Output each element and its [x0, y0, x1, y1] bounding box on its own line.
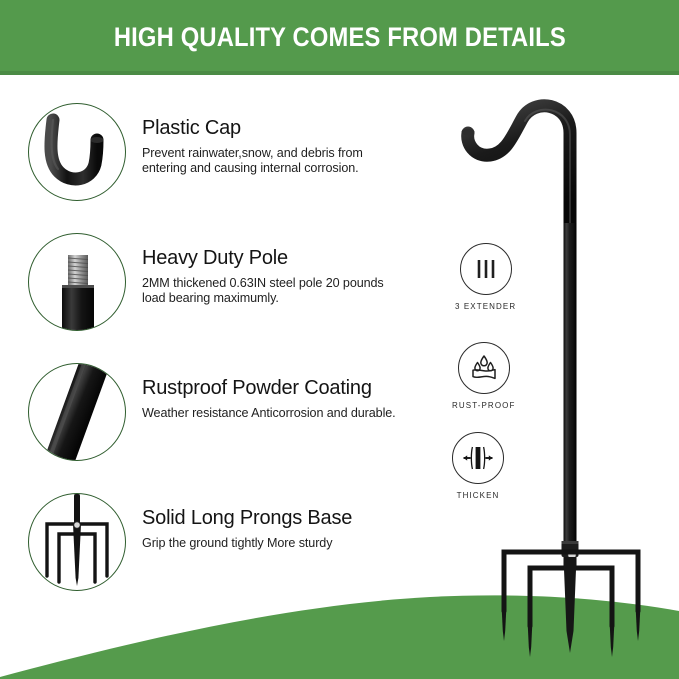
- product-infographic: HIGH QUALITY COMES FROM DETAILS: [0, 0, 679, 679]
- badge-rust-proof: RUST-PROOF: [452, 342, 515, 410]
- outward-arrows-icon: [452, 432, 504, 484]
- feature-item: Solid Long Prongs Base Grip the ground t…: [28, 493, 352, 591]
- feature-title: Heavy Duty Pole: [142, 247, 410, 269]
- badge-thicken: THICKEN: [452, 432, 504, 500]
- header-banner: HIGH QUALITY COMES FROM DETAILS: [0, 0, 679, 75]
- feature-title: Plastic Cap: [142, 117, 410, 139]
- water-droplets-icon: [458, 342, 510, 394]
- feature-item: Plastic Cap Prevent rainwater,snow, and …: [28, 103, 410, 201]
- prongs-base-photo-icon: [28, 493, 126, 591]
- feature-text: Rustproof Powder Coating Weather resista…: [142, 363, 396, 421]
- badge-label: RUST-PROOF: [452, 401, 515, 410]
- feature-text: Solid Long Prongs Base Grip the ground t…: [142, 493, 352, 551]
- hook-end-photo-icon: [28, 103, 126, 201]
- feature-title: Solid Long Prongs Base: [142, 507, 352, 529]
- feature-text: Plastic Cap Prevent rainwater,snow, and …: [142, 103, 410, 176]
- coated-pole-photo-icon: [28, 363, 126, 461]
- badge-3-extender: 3 EXTENDER: [455, 243, 516, 311]
- feature-description: Grip the ground tightly More sturdy: [142, 536, 352, 551]
- feature-description: Weather resistance Anticorrosion and dur…: [142, 406, 396, 421]
- feature-item: Rustproof Powder Coating Weather resista…: [28, 363, 396, 461]
- feature-text: Heavy Duty Pole 2MM thickened 0.63IN ste…: [142, 233, 410, 306]
- badge-label: THICKEN: [457, 491, 500, 500]
- feature-title: Rustproof Powder Coating: [142, 377, 396, 399]
- badge-label: 3 EXTENDER: [455, 302, 516, 311]
- feature-description: Prevent rainwater,snow, and debris from …: [142, 146, 410, 176]
- feature-item: Heavy Duty Pole 2MM thickened 0.63IN ste…: [28, 233, 410, 331]
- page-title: HIGH QUALITY COMES FROM DETAILS: [113, 22, 565, 53]
- threaded-pole-photo-icon: [28, 233, 126, 331]
- three-bars-icon: [460, 243, 512, 295]
- feature-description: 2MM thickened 0.63IN steel pole 20 pound…: [142, 276, 410, 306]
